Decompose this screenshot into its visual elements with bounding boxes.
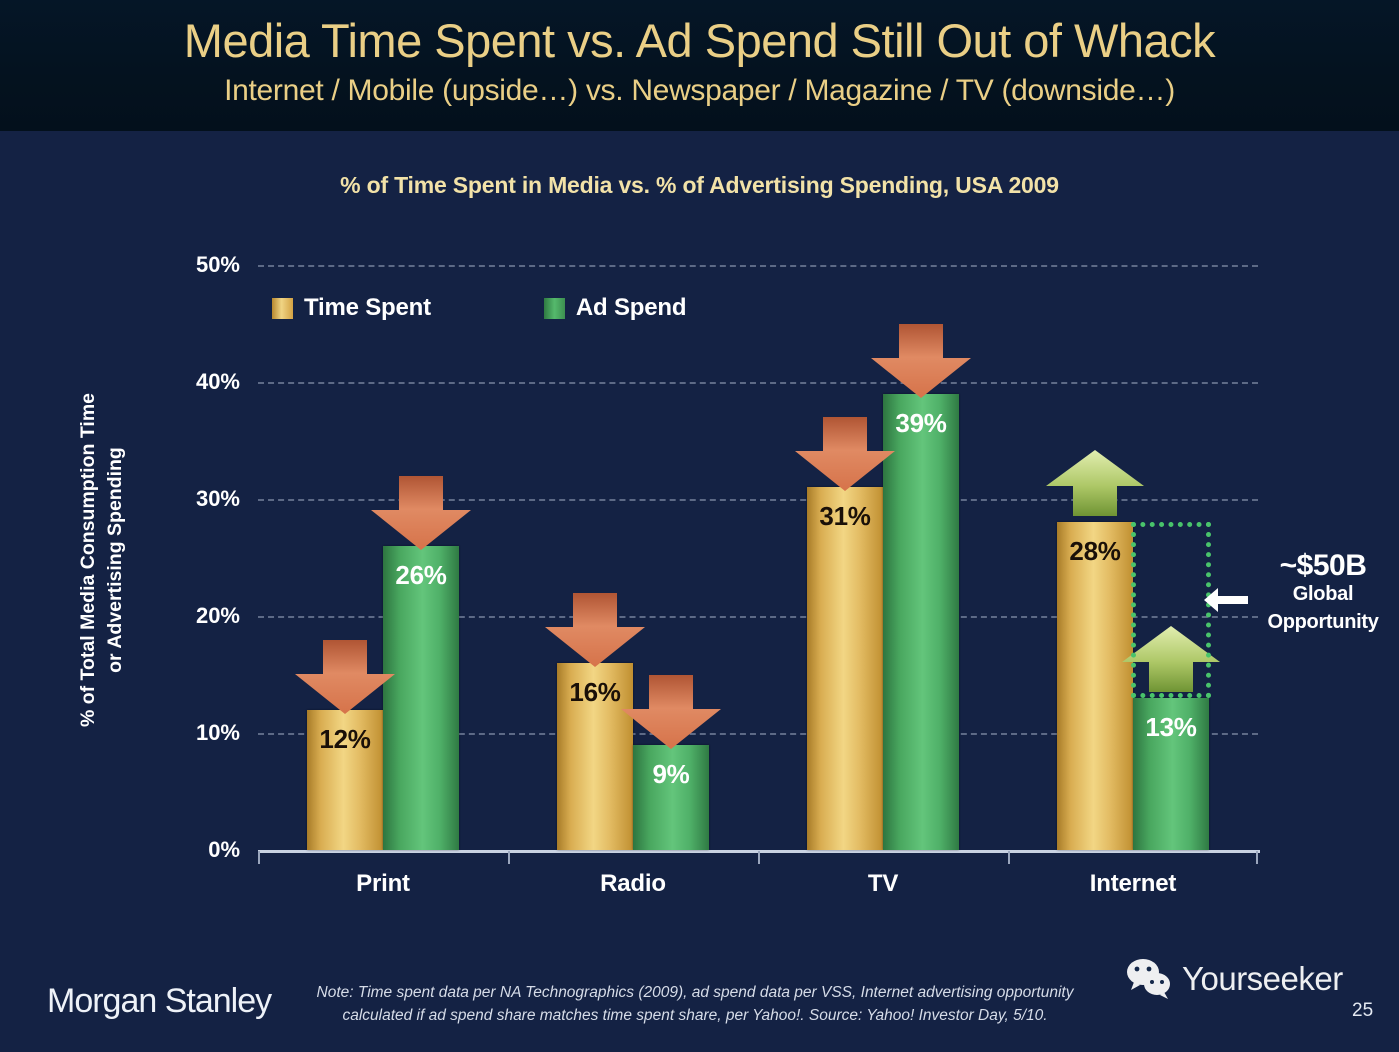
y-axis-tick-label: 30% <box>160 486 240 512</box>
y-axis-tick-label: 20% <box>160 603 240 629</box>
gridline <box>258 382 1258 384</box>
bar-internet-ad-spend[interactable]: 13% <box>1133 698 1209 850</box>
y-axis-tick-label: 40% <box>160 369 240 395</box>
bar-value-label: 13% <box>1133 712 1209 743</box>
legend-swatch-icon-ad-spend <box>544 298 565 319</box>
y-axis-title: % of Total Media Consumption Time or Adv… <box>72 300 132 820</box>
x-axis-end-cap <box>258 851 260 864</box>
opportunity-gap-box <box>1131 522 1211 698</box>
down-arrow-icon <box>868 322 974 400</box>
watermark: Yourseeker <box>1124 957 1343 1001</box>
footnote: Note: Time spent data per NA Technograph… <box>315 981 1075 1027</box>
bar-print-time-spent[interactable]: 12% <box>307 710 383 850</box>
bar-radio-ad-spend[interactable]: 9% <box>633 745 709 850</box>
legend-swatch-icon-time-spent <box>272 298 293 319</box>
y-axis-tick-label: 10% <box>160 720 240 746</box>
legend-item-ad-spend[interactable]: Ad Spend <box>544 294 686 322</box>
x-axis-tick <box>758 851 760 864</box>
bar-value-label: 9% <box>633 759 709 790</box>
down-arrow-icon <box>368 474 474 552</box>
x-axis-category-label-print: Print <box>273 870 493 898</box>
down-arrow-icon <box>292 638 398 716</box>
x-axis-category-label-internet: Internet <box>1023 870 1243 898</box>
opportunity-line-2: Global <box>1248 580 1398 608</box>
x-axis-category-label-tv: TV <box>773 870 993 898</box>
page-number: 25 <box>1352 1000 1373 1022</box>
slide-subtitle: Internet / Mobile (upside…) vs. Newspape… <box>0 74 1399 108</box>
bar-tv-time-spent[interactable]: 31% <box>807 487 883 850</box>
x-axis-tick <box>508 851 510 864</box>
watermark-text: Yourseeker <box>1182 960 1343 998</box>
opportunity-callout: ~$50B Global Opportunity <box>1248 552 1398 636</box>
down-arrow-icon <box>618 673 724 751</box>
y-axis-title-text: % of Total Media Consumption Time or Adv… <box>75 300 129 820</box>
gridline <box>258 265 1258 267</box>
chart-legend: Time Spent Ad Spend <box>272 294 686 322</box>
legend-item-time-spent[interactable]: Time Spent <box>272 294 431 322</box>
up-arrow-icon <box>1043 448 1147 518</box>
x-axis-tick <box>1008 851 1010 864</box>
y-axis-tick-label: 0% <box>160 837 240 863</box>
down-arrow-icon <box>792 415 898 493</box>
bar-value-label: 26% <box>383 560 459 591</box>
wechat-icon <box>1124 957 1176 1001</box>
x-axis-category-label-radio: Radio <box>523 870 743 898</box>
x-axis-end-cap <box>1256 851 1258 864</box>
y-axis-tick-label: 50% <box>160 252 240 278</box>
chart-title: % of Time Spent in Media vs. % of Advert… <box>0 172 1399 199</box>
opportunity-pointer-arrow-icon <box>1202 585 1250 615</box>
bar-value-label: 12% <box>307 724 383 755</box>
legend-label-time-spent: Time Spent <box>304 294 431 322</box>
morgan-stanley-logo: Morgan Stanley <box>47 982 271 1021</box>
bar-value-label: 31% <box>807 501 883 532</box>
bar-value-label: 28% <box>1057 536 1133 567</box>
legend-label-ad-spend: Ad Spend <box>576 294 686 322</box>
slide-title: Media Time Spent vs. Ad Spend Still Out … <box>0 13 1399 68</box>
opportunity-line-3: Opportunity <box>1248 608 1398 636</box>
down-arrow-icon <box>542 591 648 669</box>
opportunity-amount: ~$50B <box>1248 552 1398 580</box>
